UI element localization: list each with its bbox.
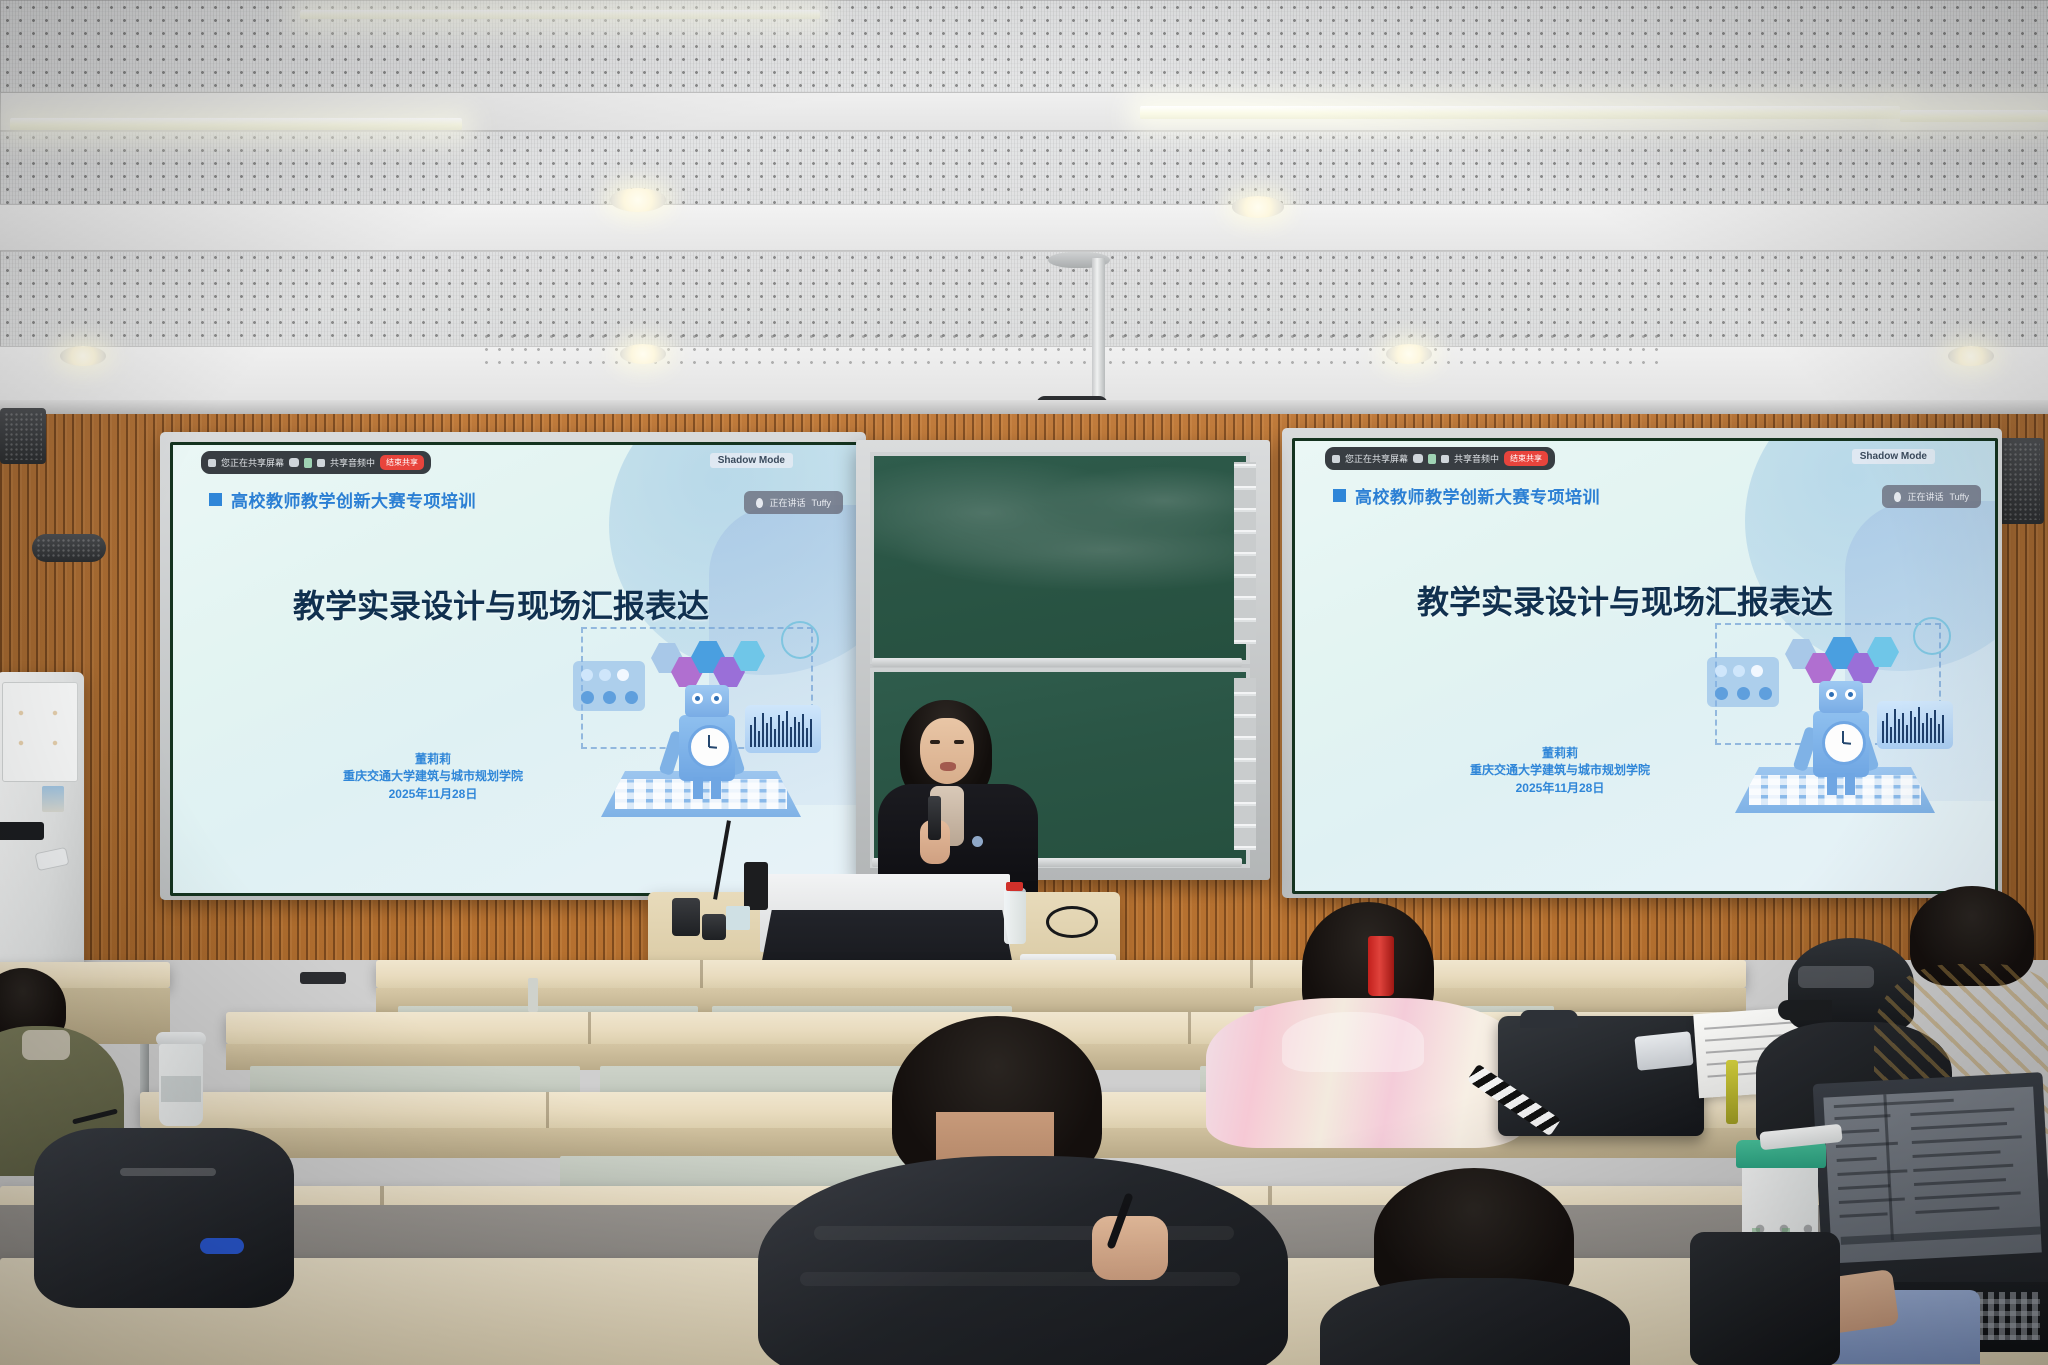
shadow-mode-badge-right: Shadow Mode [1852, 449, 1935, 464]
mic-status-label: 正在讲话 [769, 496, 805, 509]
student-bottom-right [1320, 1168, 1630, 1365]
robot-clock-face [688, 725, 732, 769]
desk-power-outlet[interactable] [300, 972, 346, 984]
robot-head-right [1819, 681, 1863, 713]
ai-robot-illustration-left [573, 613, 823, 823]
lecturer-lapel-pin [972, 836, 983, 847]
presenter-name-right: 董莉莉 [1417, 745, 1703, 762]
handbag-handle [1520, 1010, 1578, 1028]
blackboard-side-strip-upper [1234, 462, 1256, 644]
presentation-date-right: 2025年11月28日 [1417, 780, 1703, 797]
wall-speaker-left [32, 534, 106, 562]
mic-glyph-icon-right [1894, 492, 1901, 502]
note-icon[interactable] [304, 458, 312, 468]
share-toolbar-left[interactable]: 您正在共享屏幕 共享音频中 结束共享 [201, 451, 431, 474]
downlight-2 [1232, 196, 1284, 218]
downlight-4 [620, 344, 666, 364]
ceiling-panel-row2 [0, 130, 2048, 206]
presenter-name: 董莉莉 [293, 751, 573, 768]
classroom-photo: 您正在共享屏幕 共享音频中 结束共享 Shadow Mode 正在讲话 Tuff… [0, 0, 2048, 1365]
audio-icon [317, 459, 325, 467]
coffee-cup-left [152, 1032, 210, 1128]
bullet-square-icon [209, 493, 222, 506]
downlight-3 [60, 346, 106, 366]
podium-paper-cup [726, 906, 750, 930]
wall-trim [0, 400, 2048, 414]
bottle-cap [1006, 882, 1023, 891]
ceiling-band-b [0, 204, 2048, 252]
ai-robot-illustration-right [1707, 609, 1957, 819]
blackboard-panel-upper [870, 452, 1250, 664]
slide-footer-left: 董莉莉 重庆交通大学建筑与城市规划学院 2025年11月28日 [293, 751, 573, 803]
hex-cluster-icon [651, 639, 761, 683]
share-status-label-right: 您正在共享屏幕 [1345, 452, 1408, 465]
bag-bottom-right [1690, 1232, 1840, 1365]
end-share-button[interactable]: 结束共享 [380, 455, 424, 470]
strip-light-4 [300, 10, 820, 19]
podium-cup-2 [702, 914, 726, 940]
robot-clock-face-right [1822, 721, 1866, 765]
downlight-5 [1386, 344, 1432, 364]
slide-header-text: 高校教师教学创新大赛专项培训 [231, 487, 476, 512]
display-right-inner: 您正在共享屏幕 共享音频中 结束共享 Shadow Mode 正在讲话 Tuff… [1292, 438, 1998, 894]
coiled-cable [1046, 906, 1098, 938]
backpack-black [34, 1128, 294, 1308]
signal-icon [208, 459, 216, 467]
display-left-inner: 您正在共享屏幕 共享音频中 结束共享 Shadow Mode 正在讲话 Tuff… [170, 442, 862, 896]
mic-status-label-right: 正在讲话 [1907, 490, 1943, 503]
air-conditioner [0, 672, 84, 1002]
blackboard-rail-upper [872, 658, 1242, 667]
lecturer-face [920, 718, 974, 784]
laptop[interactable] [1813, 1072, 2048, 1294]
cloud-icon-right[interactable] [1413, 454, 1423, 463]
slide-header-right: 高校教师教学创新大赛专项培训 [1333, 483, 1600, 508]
robot-head [685, 685, 729, 717]
waveform-panel-right [1877, 701, 1953, 749]
waveform-panel [745, 705, 821, 753]
mic-status-chip-left: 正在讲话 Tuffy [744, 491, 843, 514]
student-center-hand [1092, 1216, 1168, 1280]
student-pink-hood [1282, 1012, 1424, 1072]
water-bottle [1004, 888, 1026, 944]
signal-icon-right [1332, 455, 1340, 463]
share-audio-label-right: 共享音频中 [1454, 452, 1499, 465]
desk-divider-post [528, 978, 538, 1012]
circle-badge-icon-right [1913, 617, 1951, 655]
downlight-1 [610, 188, 666, 212]
share-status-label: 您正在共享屏幕 [221, 456, 284, 469]
mic-speaker-label-right: Tuffy [1949, 492, 1969, 502]
mic-status-chip-right: 正在讲话 Tuffy [1882, 485, 1981, 508]
downlight-6 [1948, 346, 1994, 366]
lecturer [872, 700, 1042, 890]
presentation-date: 2025年11月28日 [293, 786, 573, 803]
bullet-square-icon-right [1333, 489, 1346, 502]
hex-cluster-icon-right [1785, 635, 1895, 679]
handheld-microphone-icon [928, 796, 941, 840]
strip-light-2 [1140, 106, 1900, 119]
presenter-affiliation: 重庆交通大学建筑与城市规划学院 [293, 768, 573, 785]
display-panel-right[interactable]: 您正在共享屏幕 共享音频中 结束共享 Shadow Mode 正在讲话 Tuff… [1282, 428, 2002, 898]
backpack-strap-accent [200, 1238, 244, 1254]
strip-light-3 [1900, 110, 2048, 122]
shadow-mode-badge: Shadow Mode [710, 453, 793, 468]
student-center-puffer [758, 1156, 1288, 1365]
podium-mic-base [744, 862, 768, 910]
highlighter-pen [1726, 1060, 1738, 1124]
mic-glyph-icon [756, 498, 763, 508]
note-icon-right[interactable] [1428, 454, 1436, 464]
circle-badge-icon [781, 621, 819, 659]
slide-left: 您正在共享屏幕 共享音频中 结束共享 Shadow Mode 正在讲话 Tuff… [173, 445, 859, 893]
end-share-button-right[interactable]: 结束共享 [1504, 451, 1548, 466]
cloud-icon[interactable] [289, 458, 299, 467]
thermos-red [1368, 936, 1394, 996]
audio-icon-right [1441, 455, 1449, 463]
wall-projector-box [0, 408, 46, 464]
laptop-screen [1823, 1087, 2041, 1264]
share-toolbar-right[interactable]: 您正在共享屏幕 共享音频中 结束共享 [1325, 447, 1555, 470]
slide-right: 您正在共享屏幕 共享音频中 结束共享 Shadow Mode 正在讲话 Tuff… [1295, 441, 1995, 891]
podium-cup-1 [672, 898, 700, 936]
share-audio-label: 共享音频中 [330, 456, 375, 469]
presenter-affiliation-right: 重庆交通大学建筑与城市规划学院 [1417, 762, 1703, 779]
slide-footer-right: 董莉莉 重庆交通大学建筑与城市规划学院 2025年11月28日 [1417, 745, 1703, 797]
desk-row1 [376, 960, 1746, 988]
mic-speaker-label: Tuffy [811, 498, 831, 508]
display-panel-left[interactable]: 您正在共享屏幕 共享音频中 结束共享 Shadow Mode 正在讲话 Tuff… [160, 432, 866, 900]
strip-light-1 [10, 118, 462, 130]
slide-header-text-right: 高校教师教学创新大赛专项培训 [1355, 483, 1600, 508]
blackboard-side-strip-lower [1234, 678, 1256, 850]
slide-header-left: 高校教师教学创新大赛专项培训 [209, 487, 476, 512]
smartphone[interactable] [1634, 1031, 1693, 1071]
